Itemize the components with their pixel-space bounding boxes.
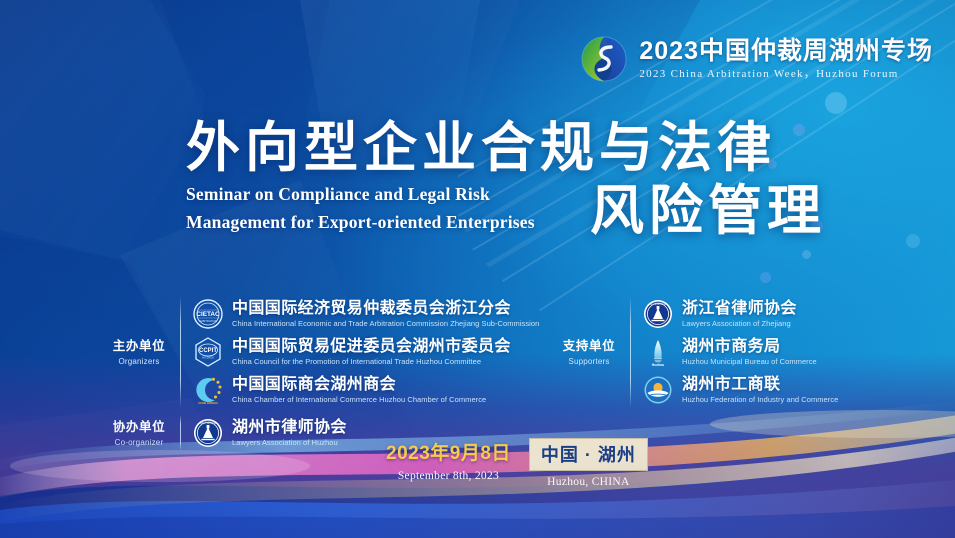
title-line-2: 风险管理	[590, 182, 826, 240]
lawyers-association-seal-icon: 湖州市律师协会	[193, 418, 223, 448]
divider	[180, 296, 181, 408]
supporter-name-cn: 浙江省律师协会	[682, 301, 797, 317]
event-location-cn: 中国 · 湖州	[529, 438, 648, 471]
co-organizer-section: 协办单位 Co-organizer 湖州市律师协会	[108, 415, 347, 451]
cietac-seal-icon: CIETAC ARBITRATION	[193, 299, 223, 329]
co-organizer-label-en: Co-organizer	[108, 438, 170, 447]
organizer-item: CIETAC ARBITRATION 中国国际经济贸易仲裁委员会浙江分会 Chi…	[193, 296, 539, 332]
huzhou-tower-icon: Huzhou	[643, 337, 673, 367]
event-location-en: Huzhou, CHINA	[547, 476, 629, 488]
event-header: 2023中国仲裁周湖州专场 2023 China Arbitration Wee…	[578, 33, 933, 85]
supporter-name-cn: 湖州市工商联	[682, 377, 838, 393]
svg-text:HU ZHOU: HU ZHOU	[202, 356, 214, 360]
ccoic-crescent-stars-icon: CCOIC HUZHOU	[193, 375, 223, 405]
divider	[630, 296, 631, 408]
event-date-en: September 8th, 2023	[398, 470, 499, 482]
organizer-name-en: China Council for the Promotion of Inter…	[232, 358, 511, 366]
ccpit-hexagon-icon: CCPIT HU ZHOU	[193, 337, 223, 367]
co-organizer-name-en: Lawyers Association of Huzhou	[232, 439, 347, 447]
supporters-section: 支持单位 Supporters 浙江省律师协会	[558, 296, 838, 408]
organizer-item: CCOIC HUZHOU 中国国际商会湖州商会 China Chamber of…	[193, 372, 539, 408]
svg-text:CCOIC HUZHOU: CCOIC HUZHOU	[198, 402, 218, 405]
supporter-item: 湖州市工商联 Huzhou Federation of Industry and…	[643, 372, 838, 408]
event-location: 中国 · 湖州 Huzhou, CHINA	[529, 438, 648, 488]
co-organizer-item: 湖州市律师协会 湖州市律师协会 Lawyers Association of H…	[193, 415, 347, 451]
organizer-name-cn: 中国国际商会湖州商会	[232, 377, 486, 393]
organizer-name-en: China International Economic and Trade A…	[232, 320, 539, 328]
conference-banner: 2023中国仲裁周湖州专场 2023 China Arbitration Wee…	[0, 0, 955, 538]
organizers-label-en: Organizers	[108, 357, 170, 366]
svg-text:CCPIT: CCPIT	[199, 348, 217, 354]
supporter-name-en: Huzhou Municipal Bureau of Commerce	[682, 358, 817, 366]
co-organizer-label: 协办单位 Co-organizer	[108, 419, 170, 446]
subtitle-line-1: Seminar on Compliance and Legal Risk	[186, 180, 535, 208]
organizers-section: 主办单位 Organizers CIETAC ARBITRATION 中国国际经…	[108, 296, 539, 408]
organizer-name-cn: 中国国际经济贸易仲裁委员会浙江分会	[232, 301, 539, 317]
co-organizer-label-cn: 协办单位	[108, 419, 170, 435]
svg-text:Huzhou: Huzhou	[652, 363, 664, 367]
supporter-name-cn: 湖州市商务局	[682, 339, 817, 355]
supporter-item: 浙江省律师协会 浙江省律师协会 Lawyers Association of Z…	[643, 296, 838, 332]
supporter-item: Huzhou 湖州市商务局 Huzhou Municipal Bureau of…	[643, 334, 838, 370]
title-line-1: 外向型企业合规与法律	[186, 118, 826, 178]
divider	[180, 415, 181, 451]
svg-text:CIETAC: CIETAC	[196, 311, 220, 318]
organizer-name-en: China Chamber of International Commerce …	[232, 396, 486, 404]
organizer-name-cn: 中国国际贸易促进委员会湖州市委员会	[232, 339, 511, 355]
header-title-en: 2023 China Arbitration Week，Huzhou Forum	[639, 69, 933, 80]
supporters-label: 支持单位 Supporters	[558, 338, 620, 365]
zhejiang-lawyers-seal-icon: 浙江省律师协会	[643, 299, 673, 329]
event-date-cn: 2023年9月8日	[386, 438, 511, 465]
organizers-label: 主办单位 Organizers	[108, 338, 170, 365]
event-date: 2023年9月8日 September 8th, 2023	[386, 438, 511, 482]
organizers-label-cn: 主办单位	[108, 338, 170, 354]
supporter-name-en: Lawyers Association of Zhejiang	[682, 320, 797, 328]
svg-text:ARBITRATION: ARBITRATION	[199, 319, 218, 323]
main-title-block: 外向型企业合规与法律 Seminar on Compliance and Leg…	[186, 118, 826, 240]
subtitle-line-2: Management for Export-oriented Enterpris…	[186, 208, 535, 236]
supporter-name-en: Huzhou Federation of Industry and Commer…	[682, 396, 838, 404]
event-info-bar: 2023年9月8日 September 8th, 2023 中国 · 湖州 Hu…	[386, 438, 648, 488]
title-subtitle-en: Seminar on Compliance and Legal Risk Man…	[186, 180, 535, 240]
co-organizer-name-cn: 湖州市律师协会	[232, 420, 347, 436]
supporters-label-cn: 支持单位	[558, 338, 620, 354]
header-title-cn: 2023中国仲裁周湖州专场	[639, 39, 933, 64]
arbitration-globe-logo-icon	[578, 33, 630, 85]
organizer-item: CCPIT HU ZHOU 中国国际贸易促进委员会湖州市委员会 China Co…	[193, 334, 539, 370]
supporters-label-en: Supporters	[558, 357, 620, 366]
huzhou-federation-sun-icon	[643, 375, 673, 405]
